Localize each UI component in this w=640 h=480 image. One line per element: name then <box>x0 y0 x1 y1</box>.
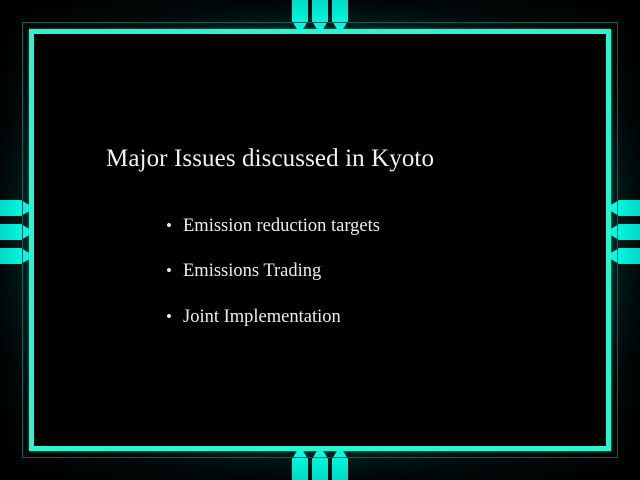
slide-title: Major Issues discussed in Kyoto <box>106 145 434 173</box>
inner-border-frame: Major Issues discussed in Kyoto • Emissi… <box>29 29 611 451</box>
bullet-text: Joint Implementation <box>183 307 341 328</box>
bullet-icon: • <box>166 308 183 325</box>
bullet-text: Emissions Trading <box>183 261 321 282</box>
bullet-list: • Emission reduction targets • Emissions… <box>166 216 552 352</box>
bullet-icon: • <box>166 217 183 234</box>
list-item: • Joint Implementation <box>166 307 552 328</box>
list-item: • Emissions Trading <box>166 261 552 282</box>
bullet-text: Emission reduction targets <box>183 216 380 237</box>
bullet-icon: • <box>166 262 183 279</box>
list-item: • Emission reduction targets <box>166 216 552 237</box>
slide-content-area: Major Issues discussed in Kyoto • Emissi… <box>68 68 572 412</box>
presentation-slide: Major Issues discussed in Kyoto • Emissi… <box>0 0 640 480</box>
